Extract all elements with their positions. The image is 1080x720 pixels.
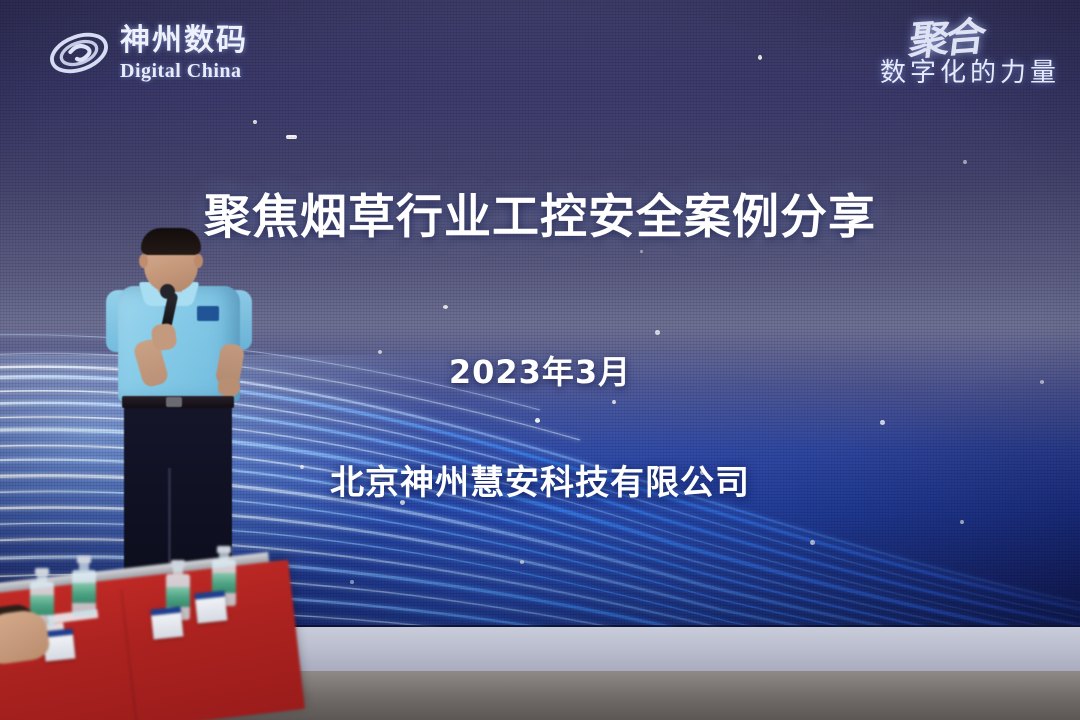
- water-bottle: [72, 556, 96, 603]
- water-bottle: [166, 560, 190, 607]
- particle-dot: [640, 250, 643, 253]
- digital-china-swirl-logo-icon: [48, 22, 110, 84]
- particle-dot: [286, 135, 297, 139]
- particle-dot: [758, 55, 762, 60]
- bottle-neck: [173, 567, 183, 574]
- campaign-kanji-text: 聚合: [876, 18, 984, 63]
- presenter-right-hand: [218, 378, 240, 396]
- presenter-ear-left: [139, 254, 148, 268]
- conference-stage-photo: 神州数码 Digital China 聚合 数字化的力量 聚焦烟草行业工控安全案…: [0, 0, 1080, 720]
- bottle-cap: [35, 568, 49, 575]
- logo-chinese-name: 神州数码: [120, 26, 248, 56]
- presenter-ear-right: [194, 254, 203, 268]
- particle-dot: [443, 305, 448, 309]
- bottle-cap: [77, 556, 91, 563]
- particle-dot: [253, 120, 257, 124]
- presenter-belt-buckle: [166, 397, 182, 407]
- bottle-label: [72, 583, 96, 603]
- bottle-cap: [217, 546, 231, 553]
- logo-english-name: Digital China: [120, 61, 248, 81]
- bottle-neck: [219, 553, 229, 560]
- water-bottle: [212, 546, 236, 593]
- bottle-neck: [37, 575, 47, 582]
- tablecloth-fold: [120, 589, 138, 720]
- digital-china-wordmark: 神州数码 Digital China: [120, 26, 248, 81]
- presenter-hair: [141, 228, 201, 255]
- bottle-label: [166, 587, 190, 607]
- name-card: [151, 607, 184, 640]
- presenter-left-hand: [150, 322, 177, 351]
- presenter-chest-emblem-icon: [197, 306, 219, 321]
- bottle-neck: [79, 563, 89, 570]
- microphone-capsule: [160, 284, 175, 299]
- water-bottle: [30, 568, 54, 615]
- particle-dot: [963, 160, 967, 164]
- digital-china-logo: 神州数码 Digital China: [48, 22, 248, 84]
- bottle-cap: [171, 560, 185, 567]
- campaign-branding: 聚合 数字化的力量: [880, 18, 1060, 89]
- name-card: [195, 591, 228, 624]
